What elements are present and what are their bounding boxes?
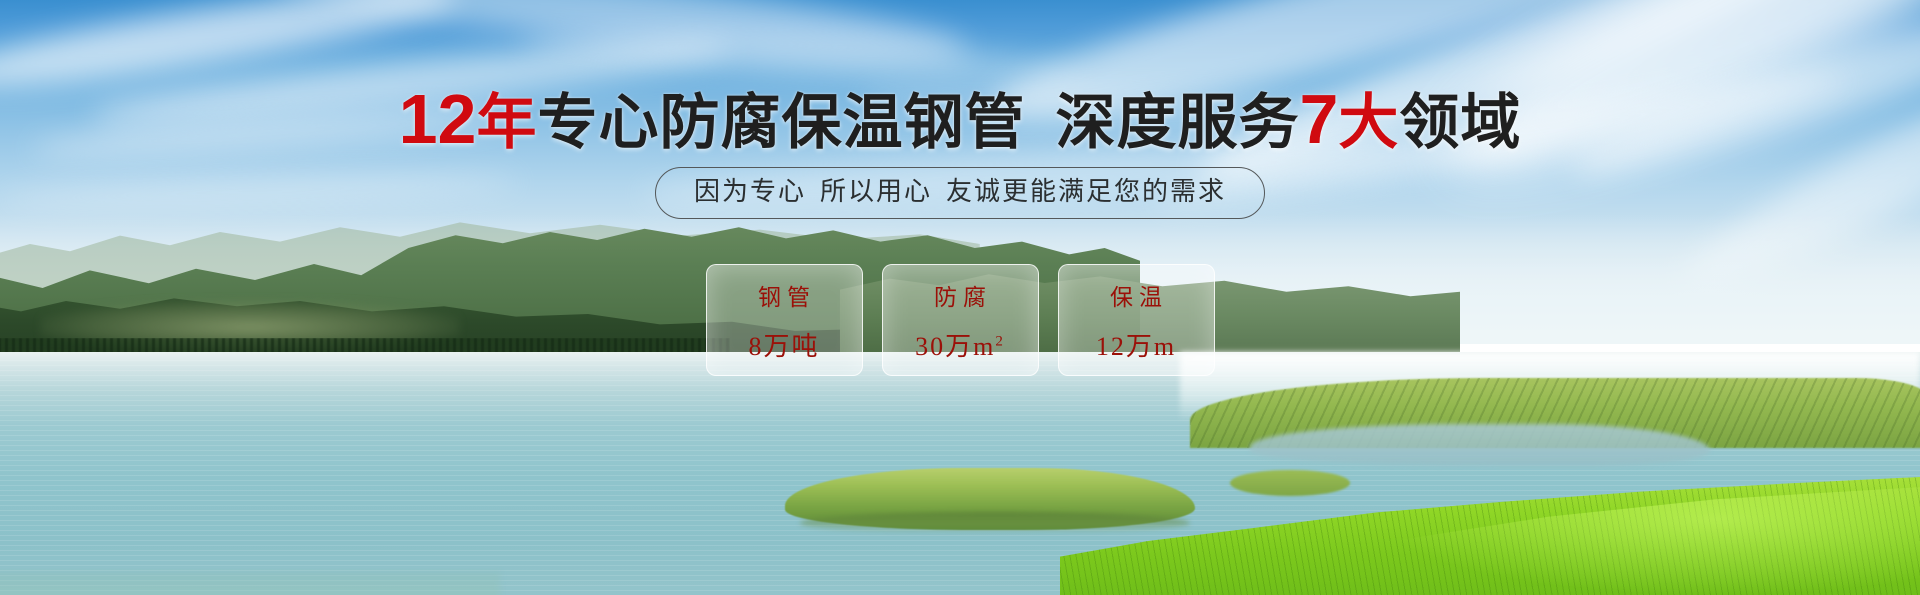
- subtitle-part-1: 因为专心: [694, 176, 806, 206]
- headline-number-fields: 7: [1299, 80, 1338, 158]
- stat-card-value: 8万吨: [748, 326, 819, 363]
- stat-card-label: 保温: [1104, 278, 1168, 312]
- stat-value-text: 30万m: [915, 332, 995, 361]
- banner-headline: 12年专心防腐保温钢管深度服务7大领域: [0, 84, 1920, 154]
- stat-value-text: 12万m: [1096, 332, 1176, 361]
- hero-banner: 12年专心防腐保温钢管深度服务7大领域 因为专心所以用心友诚更能满足您的需求 钢…: [0, 0, 1920, 595]
- subtitle-pill: 因为专心所以用心友诚更能满足您的需求: [655, 167, 1265, 219]
- stat-card-insulation: 保温 12万m: [1058, 264, 1215, 376]
- subtitle-part-3: 友诚更能满足您的需求: [946, 176, 1226, 206]
- left-bank: [0, 572, 500, 595]
- stat-cards: 钢管 8万吨 防腐 30万m2 保温 12万m: [0, 264, 1920, 376]
- water-channel: [1250, 424, 1710, 466]
- stat-card-value: 12万m: [1096, 326, 1176, 363]
- stat-card-value: 30万m2: [915, 326, 1005, 363]
- stat-card-label: 钢管: [752, 278, 816, 312]
- subtitle-container: 因为专心所以用心友诚更能满足您的需求: [0, 167, 1920, 219]
- stat-value-text: 8万吨: [748, 332, 819, 361]
- headline-unit-years: 年: [476, 89, 537, 156]
- subtitle-part-2: 所以用心: [820, 176, 932, 206]
- grass-spit: [1230, 470, 1350, 496]
- island-waterline: [800, 512, 1190, 534]
- headline-segment-specialty: 专心防腐保温钢管: [537, 89, 1025, 156]
- headline-segment-domains: 领域: [1399, 89, 1521, 156]
- stat-card-label: 防腐: [928, 278, 992, 312]
- stat-card-anticorrosion: 防腐 30万m2: [882, 264, 1039, 376]
- headline-segment-service: 深度服务: [1055, 89, 1299, 156]
- headline-number-years: 12: [399, 80, 477, 158]
- headline-unit-fields: 大: [1338, 89, 1399, 156]
- stat-card-steel-pipe: 钢管 8万吨: [706, 264, 863, 376]
- stat-value-superscript: 2: [995, 333, 1005, 349]
